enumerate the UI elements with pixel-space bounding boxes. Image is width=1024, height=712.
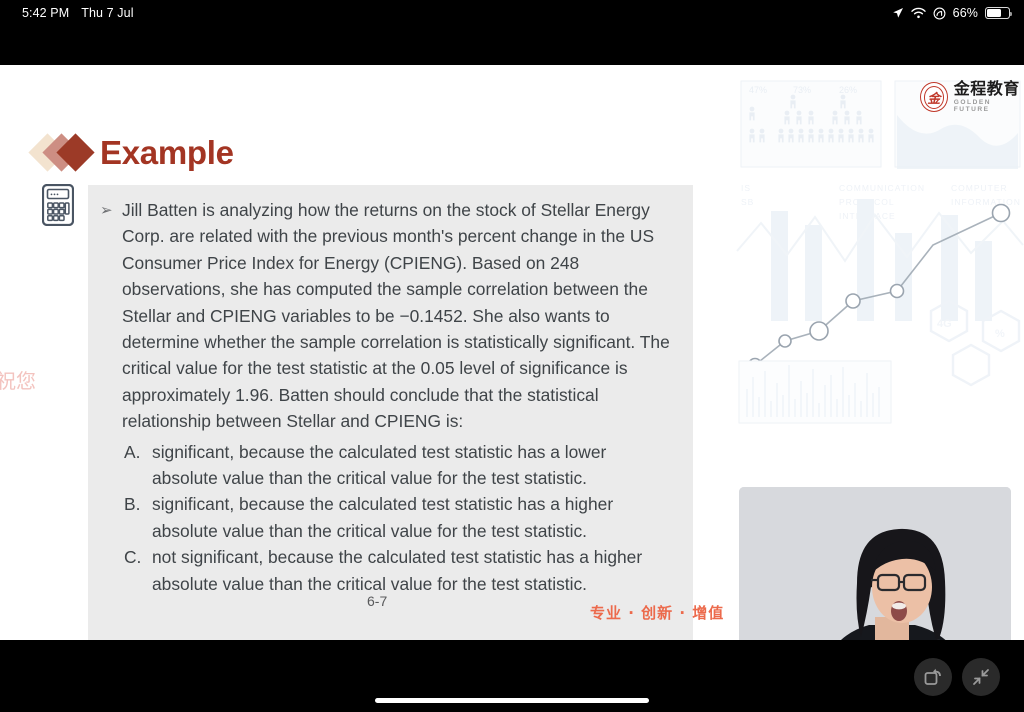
status-bar-right: 66% [892,6,1024,20]
brand-name-cn: 金程教育 [954,79,1020,98]
svg-text:IS: IS [741,183,751,193]
slide-heading: Example [34,131,234,175]
brand-logo: 金 金程教育 GOLDEN FUTURE [920,81,1024,113]
choice-letter: C. [124,544,152,570]
svg-text:26%: 26% [839,85,857,95]
brand-wordmark: 金程教育 GOLDEN FUTURE [954,81,1024,113]
answer-choice-b[interactable]: B. significant, because the calculated t… [124,491,679,544]
svg-text:4G: 4G [937,318,952,330]
svg-text:COMPUTER: COMPUTER [951,183,1008,193]
rotate-lock-button[interactable] [914,658,952,696]
brand-seal-glyph: 金 [927,88,940,107]
slide-page-number: 6-7 [367,593,387,609]
do-not-disturb-icon [933,7,946,20]
answer-choice-list: A. significant, because the calculated t… [100,439,679,597]
svg-text:INFORMATION: INFORMATION [951,197,1021,207]
presenter-video-tile[interactable] [739,487,1011,640]
question-textbox: ➢ Jill Batten is analyzing how the retur… [88,185,693,640]
status-bar: 5:42 PM Thu 7 Jul 66% [0,0,1024,26]
question-paragraph: Jill Batten is analyzing how the returns… [122,197,679,435]
choice-letter: B. [124,491,152,517]
home-indicator[interactable] [375,698,649,703]
svg-text:73%: 73% [793,85,811,95]
background-infographic: 47% 73% 26% ISSB COMMUNICATION PROTOCOL [735,65,1024,425]
page-title: Example [100,134,234,172]
battery-percent-label: 66% [953,6,978,20]
brand-seal-icon: 金 [920,82,948,112]
battery-icon [985,7,1010,19]
left-edge-watermark: 祝您 [0,365,36,394]
choice-text: not significant, because the calculated … [152,544,662,597]
svg-text:47%: 47% [749,85,767,95]
clock-date: Thu 7 Jul [81,6,133,20]
location-arrow-icon [892,7,904,19]
diamond-decoration-icon [34,131,96,175]
svg-text:COMMUNICATION: COMMUNICATION [839,183,925,193]
brand-name-en: GOLDEN FUTURE [954,100,1024,113]
choice-letter: A. [124,439,152,465]
brand-slogan: 专业 · 创新 · 增值 [590,602,724,623]
question-paragraph-row: ➢ Jill Batten is analyzing how the retur… [100,197,679,435]
status-bar-left: 5:42 PM Thu 7 Jul [0,6,134,20]
arrow-bullet-icon: ➢ [100,197,122,219]
svg-text:SB: SB [741,197,754,207]
minimize-button[interactable] [962,658,1000,696]
choice-text: significant, because the calculated test… [152,439,662,492]
clock-time: 5:42 PM [22,6,69,20]
wifi-icon [911,7,926,19]
slide-canvas: 祝您 47% 73% 26% [0,65,1024,640]
choice-text: significant, because the calculated test… [152,491,662,544]
answer-choice-a[interactable]: A. significant, because the calculated t… [124,439,679,492]
calculator-icon [42,184,74,231]
svg-text:%: % [995,328,1005,340]
answer-choice-c[interactable]: C. not significant, because the calculat… [124,544,679,597]
